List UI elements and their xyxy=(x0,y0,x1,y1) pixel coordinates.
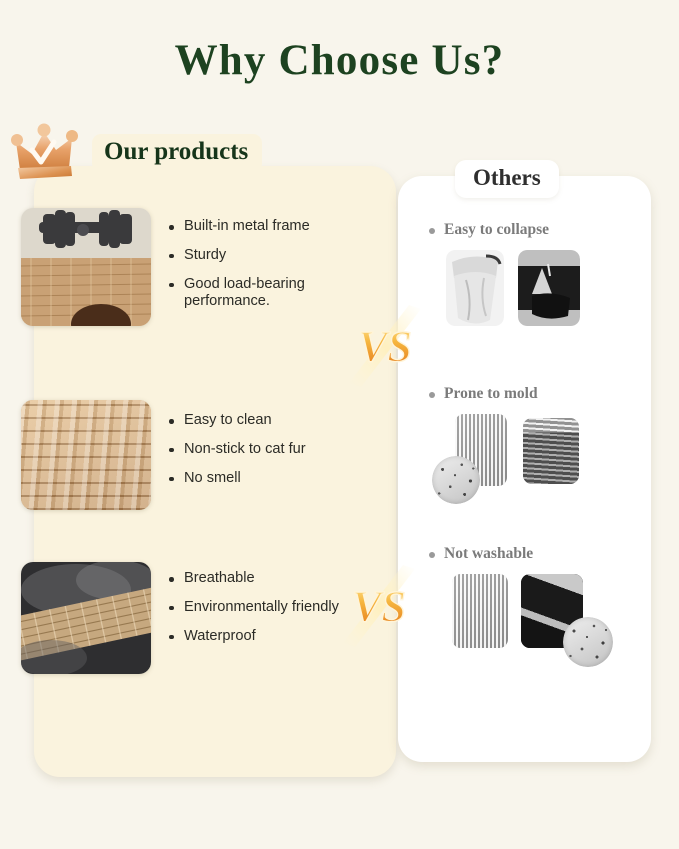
rattan-band-smoke-photo xyxy=(21,562,151,674)
vs-badge-bottom: VS xyxy=(341,563,417,647)
product-1-bullet-list: Built-in metal frame Sturdy Good load-be… xyxy=(168,218,348,322)
product-3-bullet-list: Breathable Environmentally friendly Wate… xyxy=(168,570,348,656)
infographic-page: Why Choose Us? xyxy=(0,0,679,849)
page-title: Why Choose Us? xyxy=(0,36,679,85)
svg-text:VS: VS xyxy=(352,582,406,631)
svg-text:VS: VS xyxy=(358,322,412,371)
ribbed-fabric-stain-photo xyxy=(452,574,508,648)
vs-badge-top: VS xyxy=(347,303,423,387)
our-products-badge: Our products xyxy=(92,134,262,172)
list-item: Easy to clean xyxy=(168,412,348,430)
others-badge: Others xyxy=(455,160,559,198)
list-item: Good load-bearing performance. xyxy=(168,276,348,312)
list-item: Sturdy xyxy=(168,247,348,265)
mold-speckle-detail xyxy=(432,456,480,504)
list-item: Environmentally friendly xyxy=(168,599,348,617)
rattan-weave-closeup-photo xyxy=(21,400,151,510)
product-2-bullet-list: Easy to clean Non-stick to cat fur No sm… xyxy=(168,412,348,498)
list-item: Breathable xyxy=(168,570,348,588)
crown-check-icon xyxy=(8,120,90,184)
list-item: Built-in metal frame xyxy=(168,218,348,236)
collapsed-fabric-bag-photo xyxy=(446,250,504,326)
others-label-prone-to-mold: Prone to mold xyxy=(444,385,538,403)
collapsed-dark-bed-photo xyxy=(518,250,580,326)
moldy-texture-photo xyxy=(523,418,579,484)
others-label-easy-to-collapse: Easy to collapse xyxy=(444,221,549,239)
stain-speckle-detail xyxy=(563,617,613,667)
dumbbell-on-rattan-basket-photo xyxy=(21,208,151,326)
others-label-not-washable: Not washable xyxy=(444,545,533,563)
list-item: Waterproof xyxy=(168,628,348,646)
list-item: Non-stick to cat fur xyxy=(168,441,348,459)
list-item: No smell xyxy=(168,470,348,488)
